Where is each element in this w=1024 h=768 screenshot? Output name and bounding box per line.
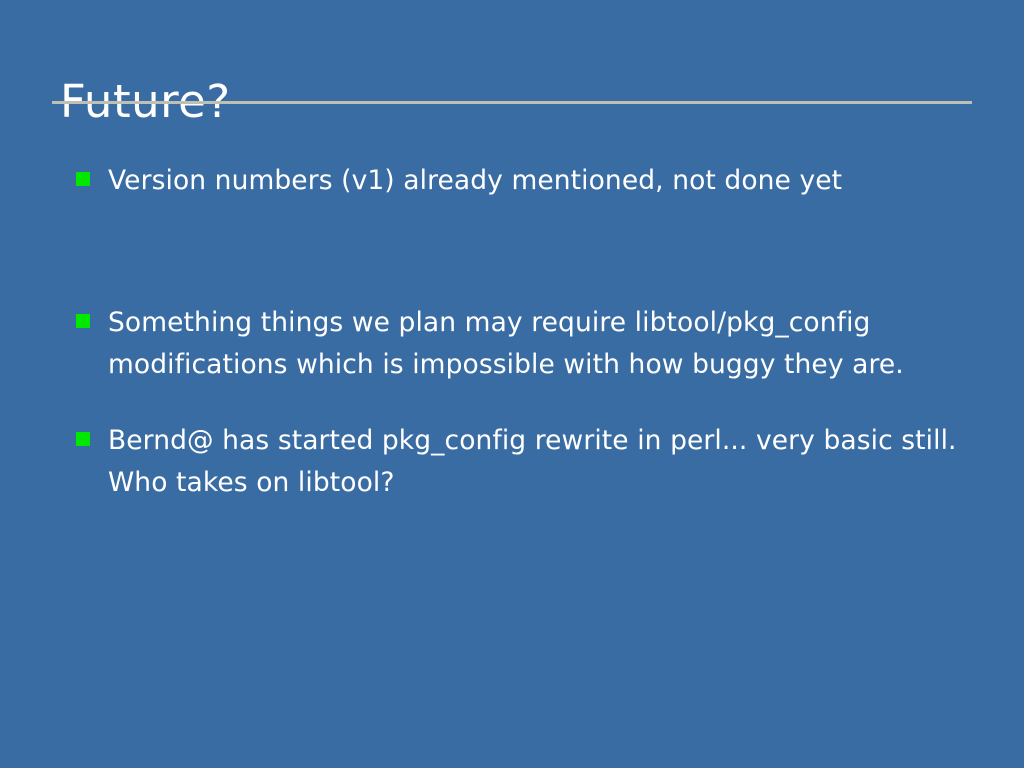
list-item: Version numbers (v1) already mentioned, … (76, 160, 976, 202)
slide-body: Version numbers (v1) already mentioned, … (76, 160, 976, 504)
list-item-label: Something things we plan may require lib… (108, 302, 948, 386)
list-item-label: Bernd@ has started pkg_config rewrite in… (108, 420, 968, 504)
green-square-bullet-icon (76, 314, 90, 328)
paragraph-spacer (76, 386, 976, 420)
slide: Future? Version numbers (v1) already men… (0, 0, 1024, 768)
list-item-label: Version numbers (v1) already mentioned, … (108, 160, 976, 202)
title-underline-rule (52, 101, 972, 104)
green-square-bullet-icon (76, 172, 90, 186)
list-item: Bernd@ has started pkg_config rewrite in… (76, 420, 976, 504)
paragraph-spacer (76, 202, 976, 302)
list-item: Something things we plan may require lib… (76, 302, 976, 386)
green-square-bullet-icon (76, 432, 90, 446)
